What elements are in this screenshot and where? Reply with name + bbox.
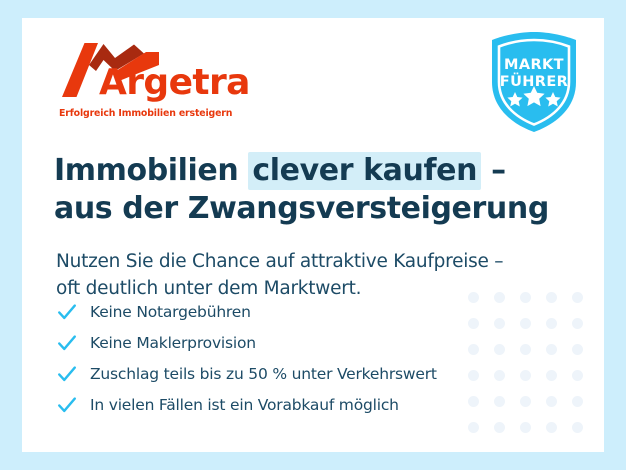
check-icon bbox=[56, 301, 78, 323]
decorative-dot bbox=[520, 396, 531, 407]
badge-line-1: MARKT bbox=[488, 58, 580, 73]
benefit-label: Keine Notargebühren bbox=[90, 303, 251, 321]
decorative-dot bbox=[572, 370, 583, 381]
decorative-dot bbox=[494, 422, 505, 433]
headline-prefix: Immobilien bbox=[54, 153, 248, 188]
logo-tagline: Erfolgreich Immobilien ersteigern bbox=[59, 108, 232, 119]
benefit-label: Zuschlag teils bis zu 50 % unter Verkehr… bbox=[90, 365, 437, 383]
decorative-dot bbox=[572, 422, 583, 433]
decorative-dot bbox=[468, 422, 479, 433]
decorative-dot bbox=[520, 370, 531, 381]
benefit-label: In vielen Fällen ist ein Vorabkauf mögli… bbox=[90, 396, 399, 414]
badge-line-2: FÜHRER bbox=[488, 75, 580, 90]
decorative-dot bbox=[520, 318, 531, 329]
subheadline-line-1: Nutzen Sie die Chance auf attraktive Kau… bbox=[56, 248, 576, 275]
check-icon bbox=[56, 332, 78, 354]
decorative-dot bbox=[572, 396, 583, 407]
promo-banner: Argetra Erfolgreich Immobilien ersteiger… bbox=[0, 0, 626, 470]
marktfuehrer-badge: MARKT FÜHRER bbox=[488, 30, 580, 134]
check-icon bbox=[56, 394, 78, 416]
decorative-dot bbox=[546, 422, 557, 433]
headline: Immobilien clever kaufen – aus der Zwang… bbox=[54, 152, 554, 228]
decorative-dot bbox=[520, 422, 531, 433]
decorative-dot bbox=[520, 344, 531, 355]
decorative-dot bbox=[546, 318, 557, 329]
benefit-label: Keine Maklerprovision bbox=[90, 334, 256, 352]
decorative-dot bbox=[546, 370, 557, 381]
benefit-list: Keine Notargebühren Keine Maklerprovisio… bbox=[56, 296, 516, 420]
decorative-dot bbox=[546, 396, 557, 407]
argetra-logo[interactable]: Argetra Erfolgreich Immobilien ersteiger… bbox=[58, 40, 258, 132]
decorative-dot bbox=[572, 318, 583, 329]
decorative-dot bbox=[572, 344, 583, 355]
list-item: In vielen Fällen ist ein Vorabkauf mögli… bbox=[56, 389, 516, 420]
check-icon bbox=[56, 363, 78, 385]
list-item: Keine Notargebühren bbox=[56, 296, 516, 327]
list-item: Keine Maklerprovision bbox=[56, 327, 516, 358]
banner-card: Argetra Erfolgreich Immobilien ersteiger… bbox=[22, 18, 604, 452]
decorative-dot bbox=[546, 344, 557, 355]
logo-wordmark: Argetra bbox=[99, 65, 250, 101]
list-item: Zuschlag teils bis zu 50 % unter Verkehr… bbox=[56, 358, 516, 389]
headline-suffix: – bbox=[481, 153, 506, 188]
headline-highlight: clever kaufen bbox=[248, 152, 481, 190]
subheadline: Nutzen Sie die Chance auf attraktive Kau… bbox=[56, 248, 576, 302]
headline-line-2: aus der Zwangsversteigerung bbox=[54, 190, 554, 228]
headline-line-1: Immobilien clever kaufen – bbox=[54, 152, 554, 190]
